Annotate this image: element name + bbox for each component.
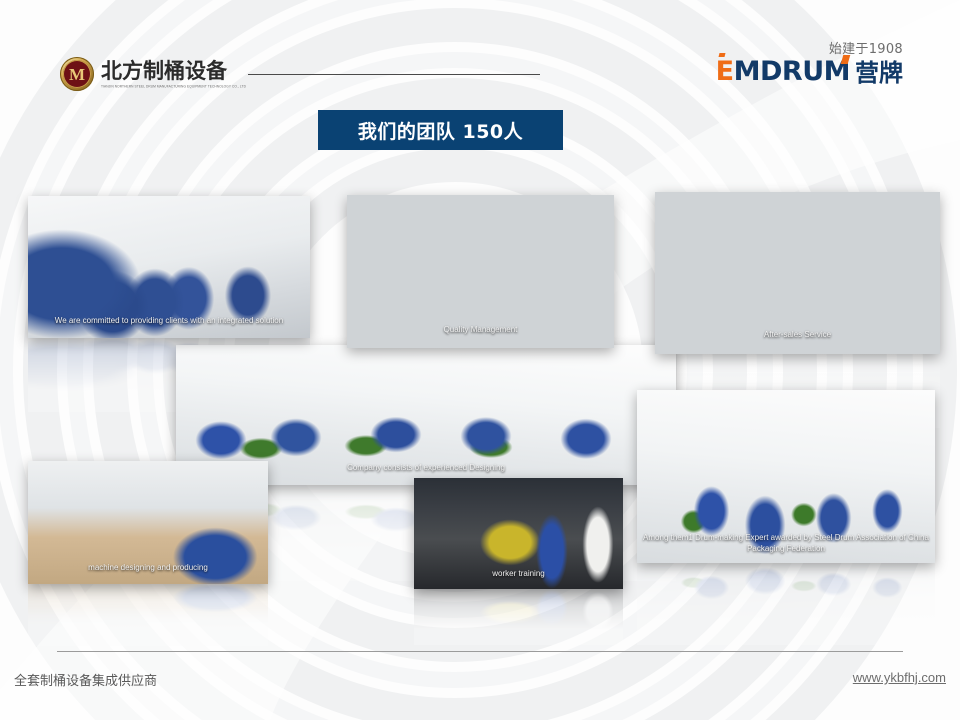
photo-worker-training[interactable]: worker training (414, 478, 623, 589)
logo-company-name-en: TIANJIN NORTHERN STEEL DRUM MANUFACTURIN… (101, 84, 246, 89)
photo-quality-management[interactable]: Quality Management (347, 195, 614, 348)
photo-after-sales-service[interactable]: After-sales Service (655, 192, 940, 354)
emdrum-wordmark: EMDRUM (716, 58, 850, 85)
photo-reflection (28, 584, 268, 646)
brand-mark: 始建于1908 EMDRUM 营牌 (716, 38, 903, 85)
seal-letter: M (60, 57, 94, 91)
seal-emblem-icon: M (60, 57, 94, 91)
footer-tagline: 全套制桶设备集成供应商 (14, 670, 157, 689)
photo-drum-making-expert[interactable]: Among them1 Drum-making Expert awarded b… (637, 390, 935, 563)
emdrum-letter-e: E (716, 56, 734, 87)
photo-office-meeting[interactable]: We are committed to providing clients wi… (28, 196, 310, 338)
slide-title-banner: 我们的团队 150人 (318, 110, 563, 150)
photo-caption: machine designing and producing (28, 563, 268, 574)
emdrum-wordmark-cn: 营牌 (855, 61, 903, 85)
header-divider-line (248, 74, 540, 75)
photo-reflection (637, 563, 935, 645)
slide-title-text: 我们的团队 150人 (358, 117, 523, 144)
emdrum-letters-rest: MDRUM (734, 56, 850, 87)
photo-caption: Among them1 Drum-making Expert awarded b… (637, 533, 935, 555)
photo-caption: Quality Management (347, 325, 614, 336)
logo-company-name-cn: 北方制桶设备 (101, 60, 246, 82)
photo-caption: worker training (414, 569, 623, 580)
slide-header: M 北方制桶设备 TIANJIN NORTHERN STEEL DRUM MAN… (0, 0, 960, 110)
footer-divider-line (57, 651, 903, 652)
photo-reflection (414, 589, 623, 645)
established-year-label: 始建于1908 (716, 38, 903, 57)
photo-caption: After-sales Service (655, 330, 940, 341)
footer-website-link[interactable]: www.ykbfhj.com (853, 670, 946, 685)
presentation-slide: M 北方制桶设备 TIANJIN NORTHERN STEEL DRUM MAN… (0, 0, 960, 720)
photo-machine-designing[interactable]: machine designing and producing (28, 461, 268, 584)
photo-caption: We are committed to providing clients wi… (28, 316, 310, 327)
company-logo: M 北方制桶设备 TIANJIN NORTHERN STEEL DRUM MAN… (60, 57, 246, 91)
